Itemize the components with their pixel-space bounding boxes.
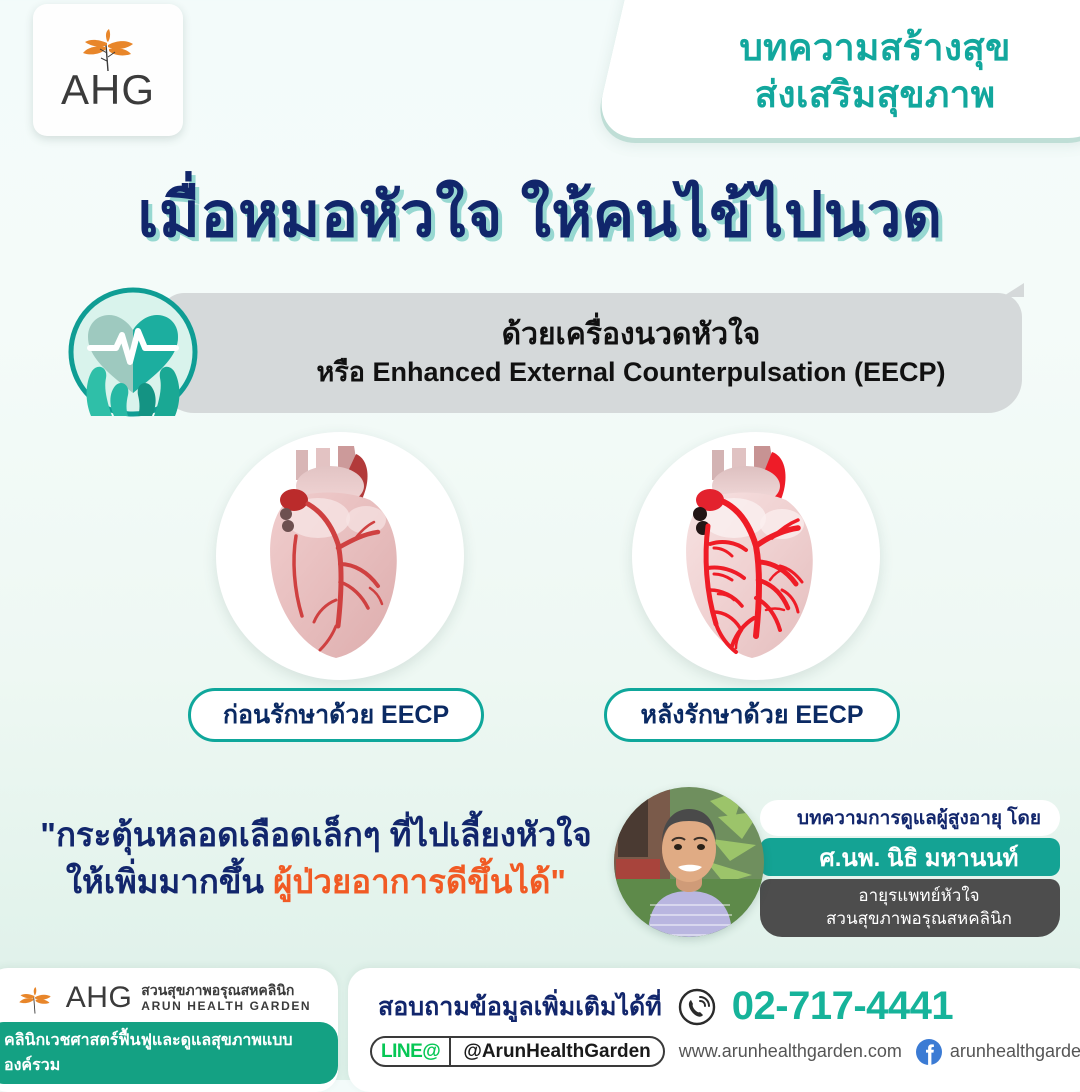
quote-block: "กระตุ้นหลอดเลือดเล็กๆ ที่ไปเลี้ยงหัวใจ … — [16, 812, 616, 906]
line-id: @ArunHealthGarden — [451, 1041, 662, 1063]
quote-line-2-plain: ให้เพิ่มมากขึ้น — [66, 863, 273, 900]
quote-line-1: "กระตุ้นหลอดเลือดเล็กๆ ที่ไปเลี้ยงหัวใจ — [16, 812, 616, 859]
header: AHG บทความสร้างสุข ส่งเสริมสุขภาพ — [0, 0, 1080, 152]
quote-line-2: ให้เพิ่มมากขึ้น ผู้ป่วยอาการดีขึ้นได้" — [16, 859, 616, 906]
footer-brand-panel: AHG สวนสุขภาพอรุณสหคลินิก ARUN HEALTH GA… — [0, 968, 338, 1092]
footer-phone[interactable]: 02-717-4441 — [732, 984, 953, 1029]
label-after-treatment: หลังรักษาด้วย EECP — [604, 688, 900, 742]
facebook-icon[interactable] — [916, 1039, 942, 1065]
footer-facebook[interactable]: arunhealthgarden — [950, 1041, 1080, 1062]
brand-logo-card: AHG — [33, 4, 183, 136]
line-contact-pill[interactable]: LINE@ @ArunHealthGarden — [370, 1036, 665, 1067]
quote-line-2-highlight: ผู้ป่วยอาการดีขึ้นได้" — [273, 863, 566, 900]
doctor-role: อายุรแพทย์หัวใจ สวนสุขภาพอรุณสหคลินิก — [760, 879, 1060, 937]
doctor-role-line-1: อายุรแพทย์หัวใจ — [858, 885, 979, 908]
footer-contact-panel: สอบถามข้อมูลเพิ่มเติมได้ที่ 02-717-4441 … — [348, 968, 1080, 1092]
page-title: เมื่อหมอหัวใจ ให้คนไข้ไปนวด — [0, 182, 1080, 250]
heart-after-image — [646, 440, 866, 672]
heart-before-circle — [216, 432, 464, 680]
footer-website[interactable]: www.arunhealthgarden.com — [679, 1041, 902, 1062]
header-line-2: ส่งเสริมสุขภาพ — [755, 72, 996, 119]
brand-logo-text: AHG — [61, 69, 155, 111]
subtitle-line-1: ด้วยเครื่องนวดหัวใจ — [316, 315, 945, 354]
heart-after-circle — [632, 432, 880, 680]
doctor-portrait — [614, 787, 764, 937]
footer-clinic-en: ARUN HEALTH GARDEN — [141, 999, 311, 1013]
header-line-1: บทความสร้างสุข — [739, 25, 1010, 72]
doctor-name: ศ.นพ. นิธิ มหานนท์ — [760, 838, 1060, 876]
footer-logo-text: AHG — [66, 983, 133, 1013]
footer-tagline: คลินิกเวชศาสตร์ฟื้นฟูและดูแลสุขภาพแบบองค… — [0, 1022, 338, 1084]
footer-ask-label: สอบถามข้อมูลเพิ่มเติมได้ที่ — [378, 987, 662, 1027]
subtitle-line-2: หรือ Enhanced External Counterpulsation … — [316, 354, 945, 390]
footer-clinic-th: สวนสุขภาพอรุณสหคลินิก — [141, 982, 311, 999]
leaf-sprig-icon-footer — [13, 986, 57, 1016]
doctor-role-line-2: สวนสุขภาพอรุณสหคลินิก — [826, 908, 1012, 931]
phone-icon[interactable] — [678, 988, 716, 1026]
label-before-treatment: ก่อนรักษาด้วย EECP — [188, 688, 484, 742]
subtitle-panel: ด้วยเครื่องนวดหัวใจ หรือ Enhanced Extern… — [160, 293, 1022, 413]
heart-before-image — [230, 440, 450, 672]
header-banner: บทความสร้างสุข ส่งเสริมสุขภาพ — [640, 16, 1080, 128]
doctor-credit-label: บทความการดูแลผู้สูงอายุ โดย — [760, 800, 1060, 836]
line-badge-icon: LINE@ — [372, 1038, 451, 1065]
heart-in-hands-icon — [58, 287, 208, 418]
